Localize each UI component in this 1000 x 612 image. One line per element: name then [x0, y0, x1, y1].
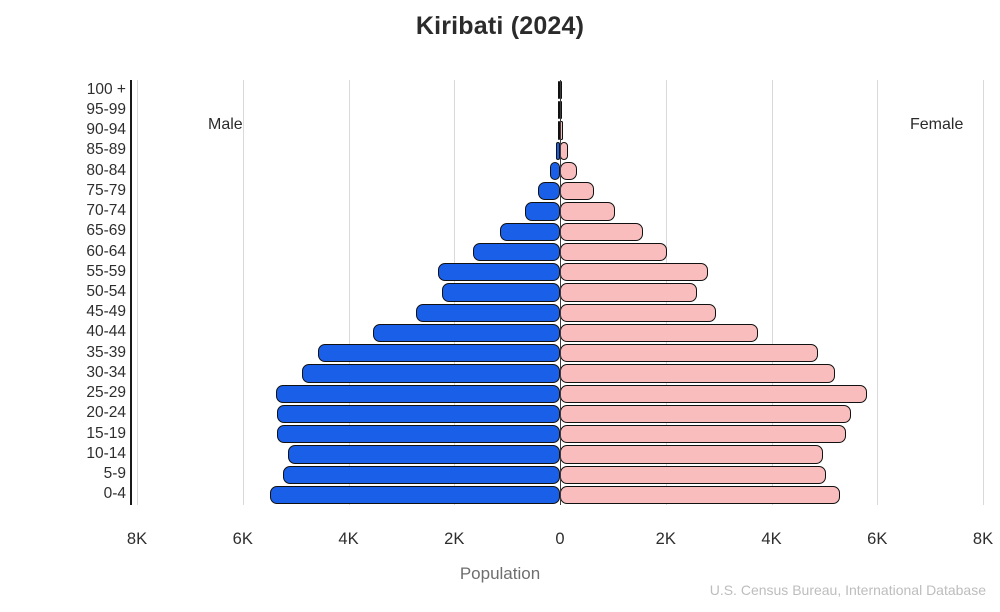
bar-female[interactable]	[560, 263, 708, 281]
x-tick-label: 4K	[732, 530, 812, 549]
y-tick-label: 0-4	[8, 485, 126, 503]
bar-male[interactable]	[302, 364, 560, 382]
bar-male[interactable]	[283, 466, 560, 484]
x-tick-label: 0	[520, 530, 600, 549]
y-tick-label: 60-64	[8, 243, 126, 261]
population-pyramid-chart: Kiribati (2024) Age 100 +95-9990-9485-89…	[0, 0, 1000, 612]
y-tick-label: 25-29	[8, 384, 126, 402]
y-tick-label: 90-94	[8, 121, 126, 139]
bar-male[interactable]	[270, 486, 560, 504]
bar-male[interactable]	[277, 425, 560, 443]
bar-female[interactable]	[560, 486, 840, 504]
y-axis-spine	[130, 80, 132, 505]
bar-female[interactable]	[560, 162, 577, 180]
bar-female[interactable]	[560, 243, 667, 261]
y-tick-label: 45-49	[8, 303, 126, 321]
series-label-male: Male	[208, 116, 243, 134]
bar-female[interactable]	[560, 223, 643, 241]
bar-male[interactable]	[276, 385, 560, 403]
y-tick-label: 100 +	[8, 81, 126, 99]
bar-female[interactable]	[560, 142, 568, 160]
bar-female[interactable]	[560, 324, 758, 342]
y-tick-label: 55-59	[8, 263, 126, 281]
bar-male[interactable]	[373, 324, 560, 342]
bar-male[interactable]	[416, 304, 560, 322]
bar-female[interactable]	[560, 304, 716, 322]
y-tick-label: 40-44	[8, 323, 126, 341]
y-tick-label: 85-89	[8, 141, 126, 159]
y-tick-label: 30-34	[8, 364, 126, 382]
bar-female[interactable]	[560, 466, 826, 484]
bar-male[interactable]	[500, 223, 560, 241]
x-axis-tick-labels: 8K6K4K2K02K4K6K8K	[0, 530, 1000, 556]
y-tick-label: 65-69	[8, 222, 126, 240]
bar-male[interactable]	[277, 405, 560, 423]
x-tick-label: 8K	[97, 530, 177, 549]
x-tick-label: 8K	[943, 530, 1000, 549]
x-tick-label: 2K	[626, 530, 706, 549]
bar-male[interactable]	[318, 344, 560, 362]
center-axis-line	[560, 80, 561, 505]
y-axis-tick-labels: Age 100 +95-9990-9485-8980-8475-7970-746…	[0, 80, 126, 505]
y-tick-label: 50-54	[8, 283, 126, 301]
bar-female[interactable]	[560, 364, 835, 382]
bar-female[interactable]	[560, 202, 615, 220]
bar-female[interactable]	[560, 385, 867, 403]
bar-female[interactable]	[560, 425, 846, 443]
y-tick-label: 80-84	[8, 162, 126, 180]
bar-female[interactable]	[560, 445, 823, 463]
y-tick-label: 5-9	[8, 465, 126, 483]
bar-female[interactable]	[560, 182, 594, 200]
bar-male[interactable]	[473, 243, 560, 261]
bar-male[interactable]	[442, 283, 560, 301]
bar-male[interactable]	[538, 182, 560, 200]
x-tick-label: 6K	[203, 530, 283, 549]
bar-male[interactable]	[438, 263, 560, 281]
x-tick-label: 6K	[837, 530, 917, 549]
bar-male[interactable]	[550, 162, 560, 180]
bar-female[interactable]	[560, 283, 697, 301]
source-attribution: U.S. Census Bureau, International Databa…	[710, 582, 986, 598]
series-label-female: Female	[910, 116, 963, 134]
x-tick-label: 2K	[414, 530, 494, 549]
plot-area	[137, 80, 983, 505]
y-tick-label: 10-14	[8, 445, 126, 463]
bar-male[interactable]	[525, 202, 560, 220]
y-tick-label: 70-74	[8, 202, 126, 220]
y-tick-label: 95-99	[8, 101, 126, 119]
y-tick-label: 20-24	[8, 404, 126, 422]
bar-female[interactable]	[560, 405, 851, 423]
y-tick-label: 35-39	[8, 344, 126, 362]
bar-female[interactable]	[560, 344, 818, 362]
y-tick-label: 75-79	[8, 182, 126, 200]
gridline	[983, 80, 984, 505]
bar-male[interactable]	[288, 445, 560, 463]
chart-title: Kiribati (2024)	[0, 12, 1000, 41]
x-axis-title: Population	[0, 564, 1000, 584]
y-tick-label: 15-19	[8, 425, 126, 443]
x-tick-label: 4K	[309, 530, 389, 549]
